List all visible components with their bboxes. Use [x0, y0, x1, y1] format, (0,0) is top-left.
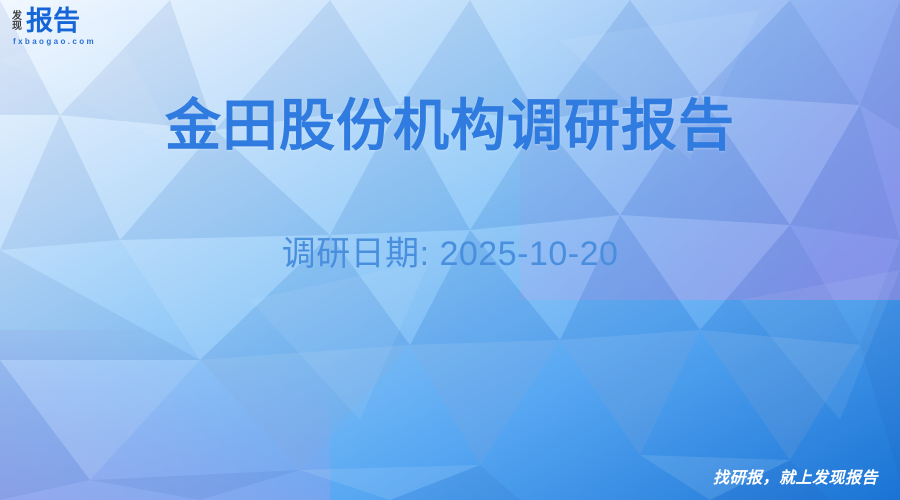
logo-stacked-characters: 发 现 [12, 12, 22, 35]
logo-stack-line-2: 现 [12, 22, 22, 32]
logo-url: fxbaogao.com [13, 37, 96, 46]
survey-date-subtitle: 调研日期: 2025-10-20 [0, 234, 900, 275]
logo-wordmark: 报告 [26, 8, 80, 35]
brand-slogan: 找研报，就上发现报告 [713, 464, 878, 488]
site-logo[interactable]: 发 现 报告 fxbaogao.com [12, 8, 96, 46]
page-title: 金田股份机构调研报告 [0, 92, 900, 159]
report-cover: 发 现 报告 fxbaogao.com 金田股份机构调研报告 调研日期: 202… [0, 0, 900, 500]
logo-row: 发 现 报告 [12, 8, 96, 35]
